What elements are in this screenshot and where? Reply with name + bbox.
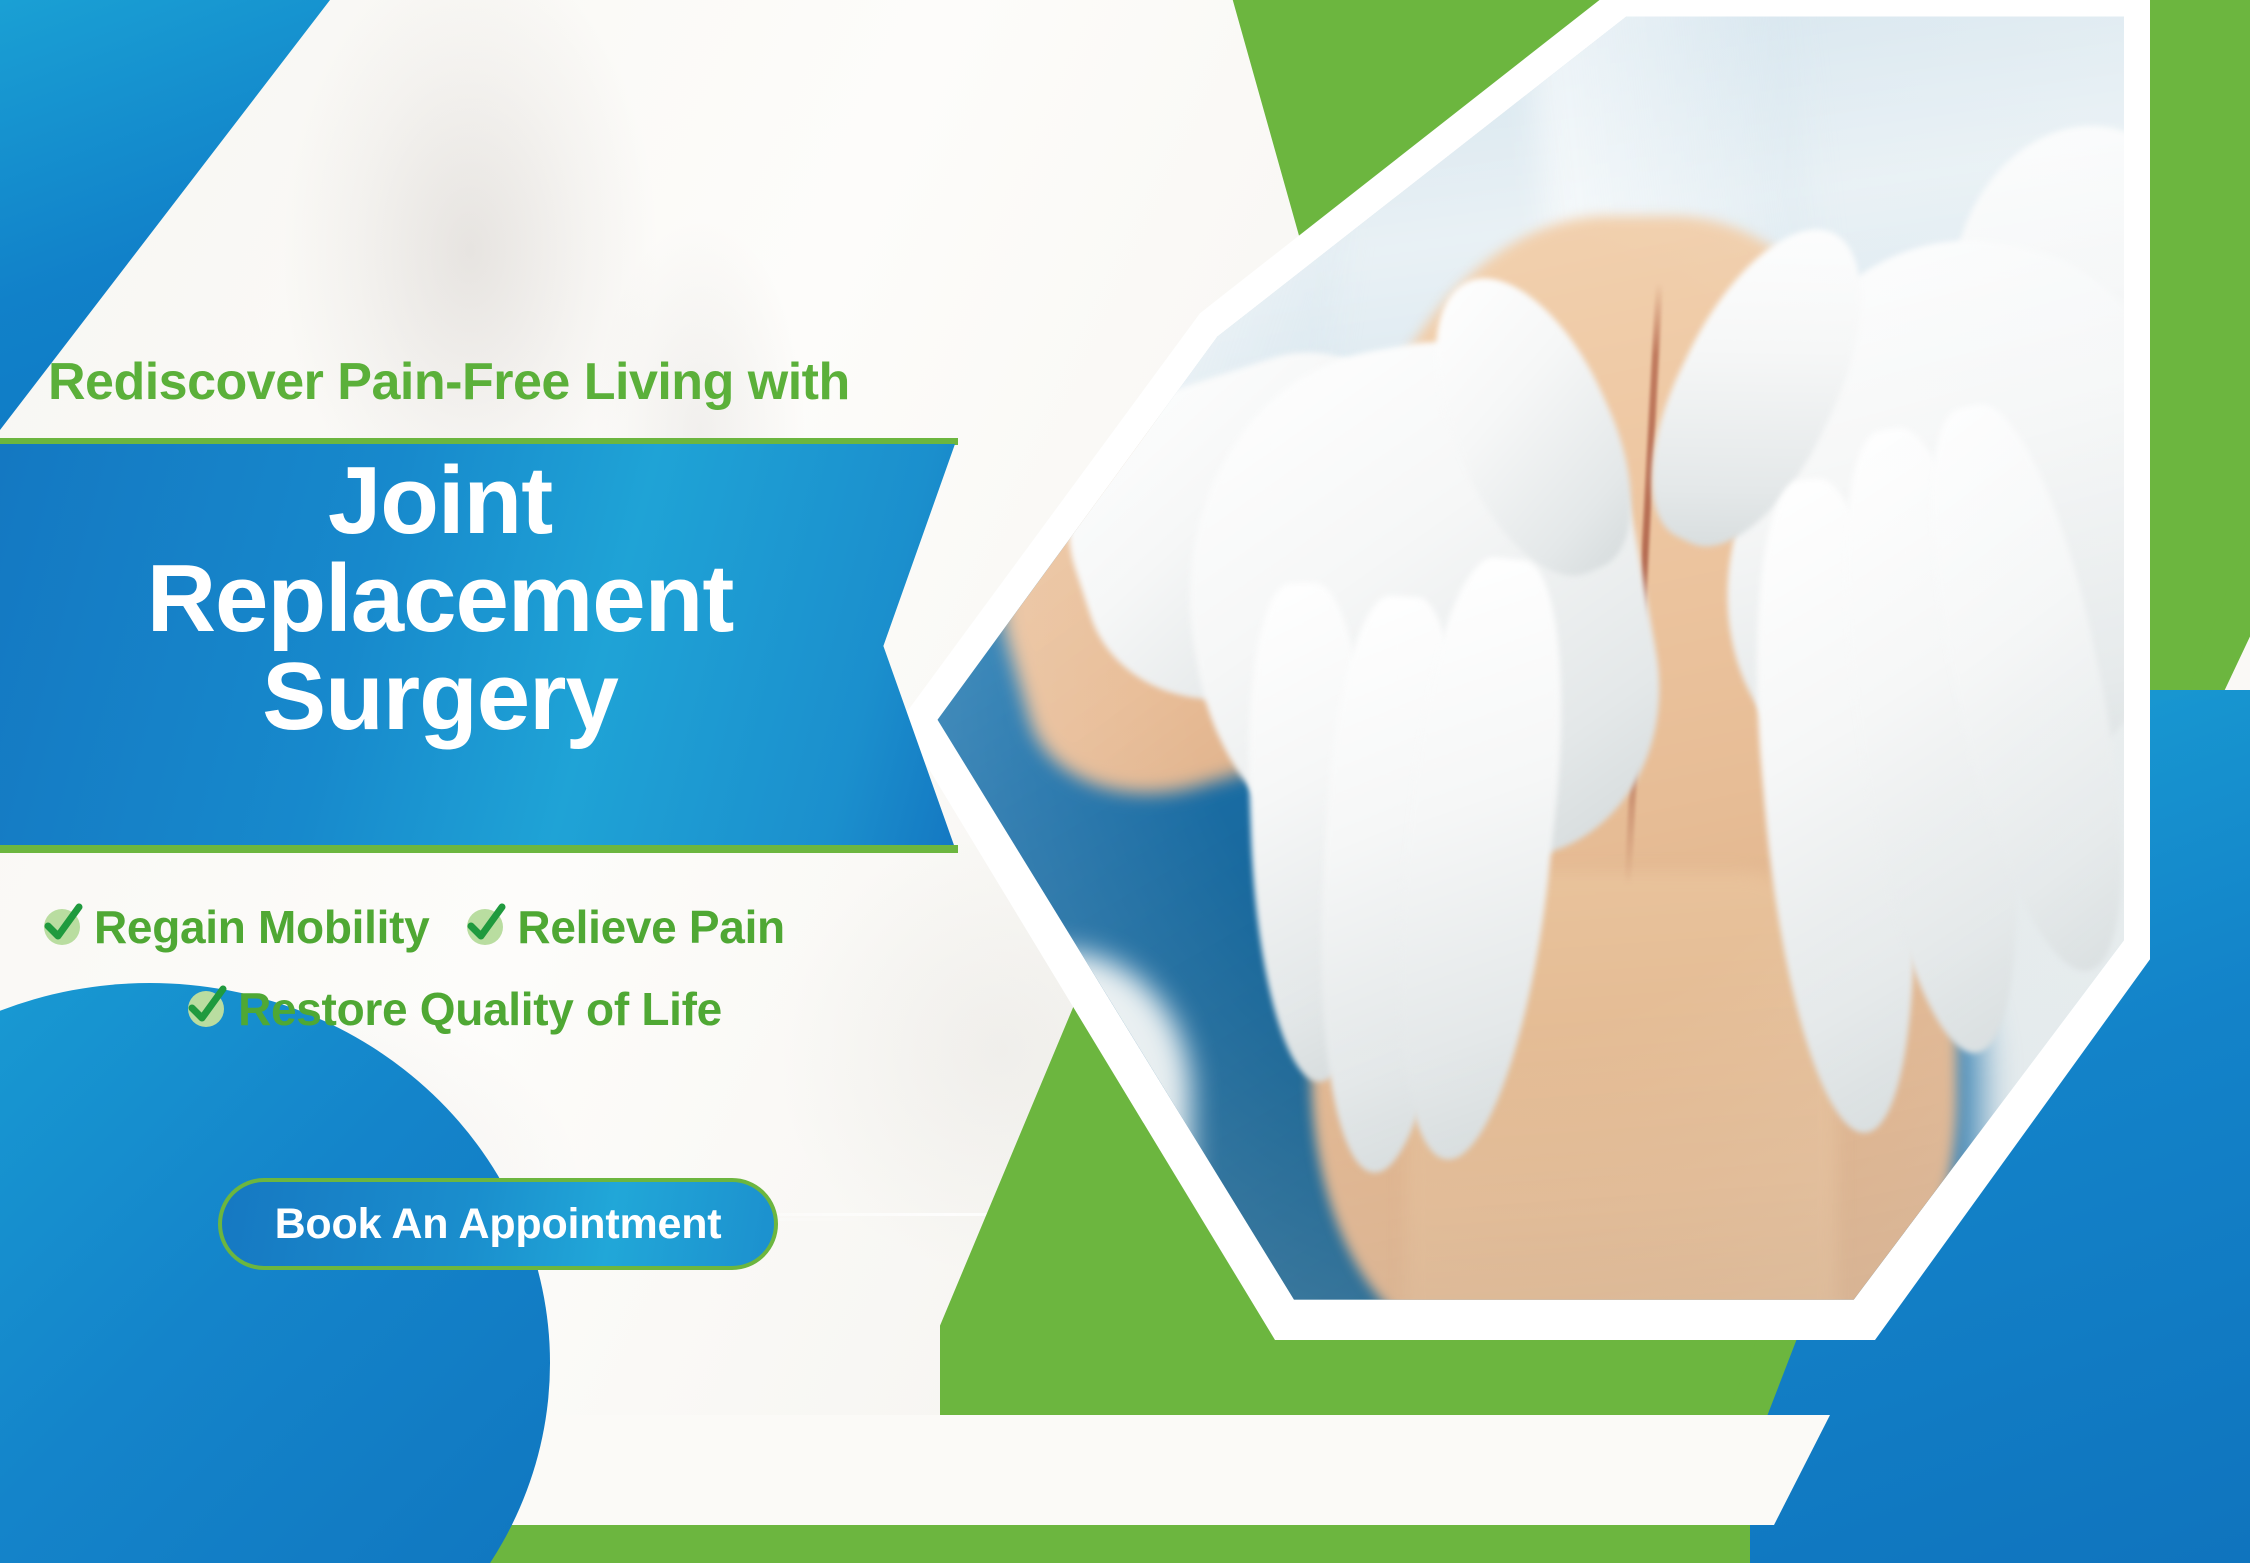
check-icon bbox=[463, 904, 509, 950]
benefit-row: Regain Mobility Relieve Pain bbox=[40, 900, 970, 954]
benefit-label: Regain Mobility bbox=[94, 900, 429, 954]
benefit-row: Restore Quality of Life bbox=[40, 982, 970, 1036]
check-icon bbox=[184, 986, 230, 1032]
benefit-label: Restore Quality of Life bbox=[238, 982, 722, 1036]
title-line-1: Joint bbox=[0, 452, 880, 550]
title-line-2: Replacement bbox=[0, 550, 880, 648]
check-icon bbox=[40, 904, 86, 950]
book-appointment-button[interactable]: Book An Appointment bbox=[218, 1178, 778, 1270]
title-line-3: Surgery bbox=[0, 648, 880, 746]
benefit-item-regain-mobility: Regain Mobility bbox=[40, 900, 429, 954]
title-band-top-border bbox=[0, 438, 958, 445]
page-title: Joint Replacement Surgery bbox=[0, 452, 880, 746]
benefit-item-relieve-pain: Relieve Pain bbox=[463, 900, 784, 954]
title-band-bottom-border bbox=[0, 845, 958, 853]
eyebrow-headline: Rediscover Pain-Free Living with bbox=[48, 352, 850, 412]
benefit-list: Regain Mobility Relieve Pain bbox=[40, 900, 970, 1036]
benefit-label: Relieve Pain bbox=[517, 900, 784, 954]
benefit-item-restore-quality-of-life: Restore Quality of Life bbox=[184, 982, 722, 1036]
promo-banner: Rediscover Pain-Free Living with Joint R… bbox=[0, 0, 2250, 1563]
